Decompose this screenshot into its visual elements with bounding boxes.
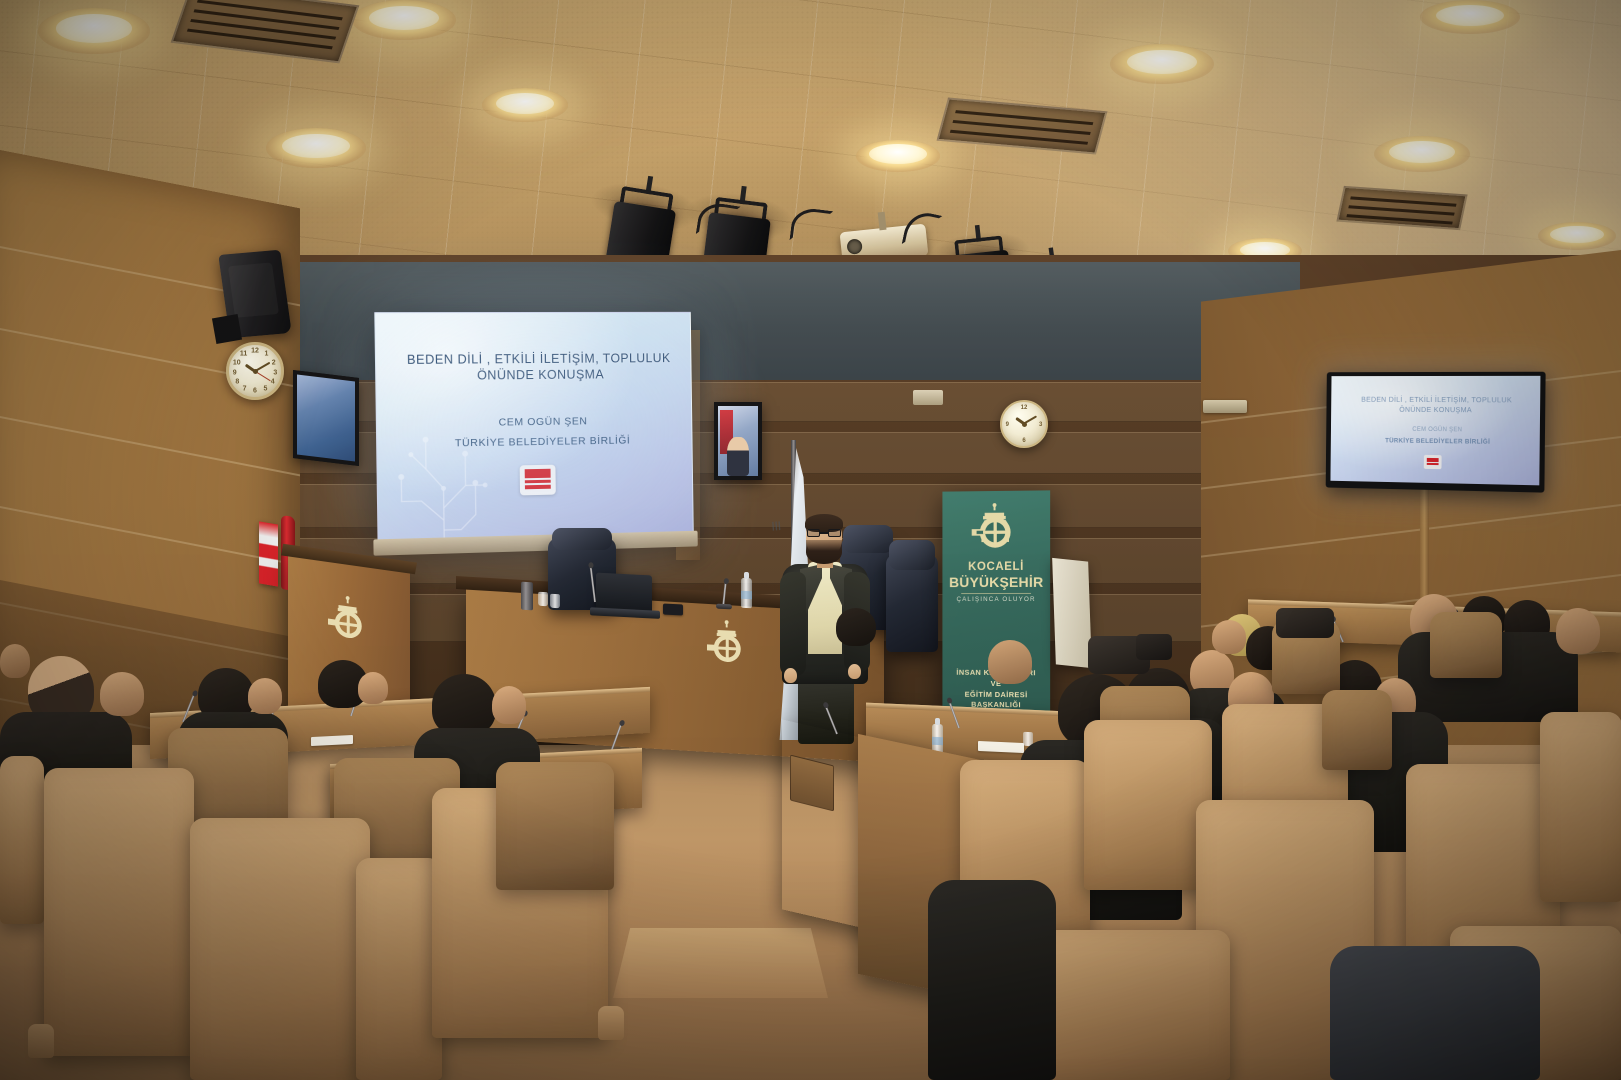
audience-chair bbox=[1430, 612, 1502, 678]
audience-chair bbox=[356, 858, 442, 1080]
clock-center-pin bbox=[1022, 422, 1027, 427]
presenter-hand-right bbox=[848, 664, 861, 679]
chair-headrest bbox=[552, 528, 612, 550]
audience-chair bbox=[1030, 930, 1230, 1080]
wall-switch-plate bbox=[913, 390, 943, 405]
audience-person-head bbox=[492, 686, 526, 724]
projector-lens bbox=[846, 238, 862, 254]
ceiling-downlight bbox=[482, 88, 568, 122]
audience-chair bbox=[190, 818, 370, 1080]
slide-title-line2: ÖNÜNDE KONUŞMA bbox=[477, 368, 604, 383]
audience-person-head bbox=[100, 672, 144, 716]
ceiling-downlight bbox=[38, 8, 150, 54]
presenter-glasses bbox=[807, 529, 841, 537]
audience-chair bbox=[1084, 720, 1212, 890]
drinking-glass bbox=[538, 592, 548, 607]
stage-platform-edge bbox=[613, 928, 828, 998]
bottle-label bbox=[932, 736, 943, 745]
presenter-laptop bbox=[596, 573, 652, 612]
ceiling-downlight bbox=[266, 128, 366, 168]
ceiling-downlight bbox=[856, 140, 940, 172]
fire-equipment-sign bbox=[259, 521, 278, 586]
audience-person-head bbox=[358, 672, 388, 704]
presenter-hand-left bbox=[784, 668, 797, 683]
conference-hall-photo: BEDEN DİLİ , ETKİLİ İLETİŞİM, TOPLULUK Ö… bbox=[0, 0, 1621, 1080]
podium-emblem bbox=[325, 593, 373, 648]
picture-artwork bbox=[297, 374, 355, 461]
audience-person-head bbox=[432, 674, 496, 736]
chair-armrest bbox=[28, 1024, 54, 1058]
banner-divider bbox=[962, 593, 1031, 594]
display-title-line1: BEDEN DİLİ , ETKİLİ İLETİŞİM, TOPLULUK bbox=[1361, 395, 1512, 405]
chair-armrest bbox=[598, 1006, 624, 1040]
framed-picture-left bbox=[293, 370, 359, 466]
projection-screen-surface: BEDEN DİLİ , ETKİLİ İLETİŞİM, TOPLULUK Ö… bbox=[374, 312, 693, 541]
ceiling-downlight bbox=[1110, 44, 1214, 84]
dais-emblem bbox=[704, 619, 752, 670]
projection-screen: BEDEN DİLİ , ETKİLİ İLETİŞİM, TOPLULUK Ö… bbox=[374, 312, 693, 541]
banner-brand-line2: BÜYÜKŞEHİR bbox=[942, 574, 1050, 590]
ceiling-downlight bbox=[1374, 136, 1470, 172]
audience-chair bbox=[1322, 690, 1392, 770]
presenter-arm-left bbox=[780, 572, 806, 676]
framed-portrait-right bbox=[714, 402, 762, 480]
bottle-label bbox=[741, 590, 752, 599]
slide-presenter-name: CEM OGÜN ŞEN bbox=[409, 414, 673, 430]
banner-dept-line3: EĞİTİM DAİRESİ bbox=[965, 689, 1028, 699]
banner-tagline: ÇALIŞINCA OLUYOR bbox=[942, 596, 1050, 603]
chair-headrest bbox=[889, 540, 935, 569]
bag-on-desk bbox=[1136, 634, 1172, 660]
audience-person-head bbox=[1556, 608, 1600, 654]
audience-chair bbox=[0, 756, 44, 924]
audience-chair bbox=[1540, 712, 1621, 902]
slide-organization: TÜRKİYE BELEDİYELER BİRLİĞİ bbox=[410, 434, 674, 450]
executive-chair bbox=[886, 554, 938, 652]
microphone-base bbox=[716, 604, 732, 610]
audience-person-head bbox=[248, 678, 282, 714]
slide-circuit-graphic bbox=[383, 411, 532, 541]
ceiling-downlight bbox=[1538, 222, 1616, 250]
flipchart-board bbox=[1052, 558, 1092, 668]
display-title: BEDEN DİLİ , ETKİLİ İLETİŞİM, TOPLULUK Ö… bbox=[1343, 395, 1531, 415]
slide-title-line1: BEDEN DİLİ , ETKİLİ İLETİŞİM, TOPLULUK bbox=[407, 351, 671, 367]
portrait-subject bbox=[727, 437, 749, 476]
wall-signage-plate bbox=[1203, 400, 1247, 413]
tbb-logo-icon bbox=[1424, 455, 1442, 469]
tbb-logo-icon bbox=[520, 464, 556, 495]
wall-clock-left: 12 1 2 3 4 5 6 7 8 9 10 11 bbox=[226, 342, 284, 400]
ceiling-downlight bbox=[352, 0, 456, 40]
audience-person-head bbox=[988, 640, 1032, 684]
wall-mounted-display: BEDEN DİLİ , ETKİLİ İLETİŞİM, TOPLULUK Ö… bbox=[1326, 372, 1546, 493]
display-presenter: CEM OGÜN ŞEN bbox=[1351, 427, 1527, 435]
desk-paper bbox=[978, 741, 1024, 753]
bag-on-desk bbox=[1276, 608, 1334, 638]
wall-clock-right: 12 3 6 9 bbox=[1000, 400, 1048, 448]
display-screen-surface: BEDEN DİLİ , ETKİLİ İLETİŞİM, TOPLULUK Ö… bbox=[1330, 376, 1540, 486]
audience-person-body bbox=[1330, 946, 1540, 1080]
clock-center-pin bbox=[253, 369, 258, 374]
audience-chair bbox=[496, 762, 614, 890]
audience-chair bbox=[44, 768, 194, 1056]
slide-title: BEDEN DİLİ , ETKİLİ İLETİŞİM, TOPLULUK Ö… bbox=[395, 350, 681, 385]
audience-person-head bbox=[0, 644, 30, 678]
display-organization: TÜRKİYE BELEDİYELER BİRLİĞİ bbox=[1351, 437, 1527, 446]
audience-person-body bbox=[928, 880, 1056, 1080]
audience-person-head bbox=[1212, 620, 1246, 654]
ceiling-downlight bbox=[1420, 0, 1520, 34]
audience-person-head bbox=[836, 608, 876, 646]
thermos-flask bbox=[521, 582, 533, 611]
pa-speaker-bracket bbox=[212, 314, 242, 344]
portrait-artwork bbox=[718, 406, 758, 476]
monitor-wall-mount bbox=[1420, 488, 1429, 608]
rollup-banner: KOCAELİ BÜYÜKŞEHİR ÇALIŞINCA OLUYOR İNSA… bbox=[942, 490, 1050, 725]
presenter-beard bbox=[806, 540, 842, 564]
banner-brand-line1: KOCAELİ bbox=[942, 561, 1050, 573]
handheld-device bbox=[663, 603, 683, 615]
display-title-line2: ÖNÜNDE KONUŞMA bbox=[1399, 404, 1472, 413]
kocaeli-gear-emblem-icon bbox=[968, 503, 1024, 555]
water-bottle bbox=[741, 578, 752, 609]
drinking-glass bbox=[550, 594, 560, 609]
